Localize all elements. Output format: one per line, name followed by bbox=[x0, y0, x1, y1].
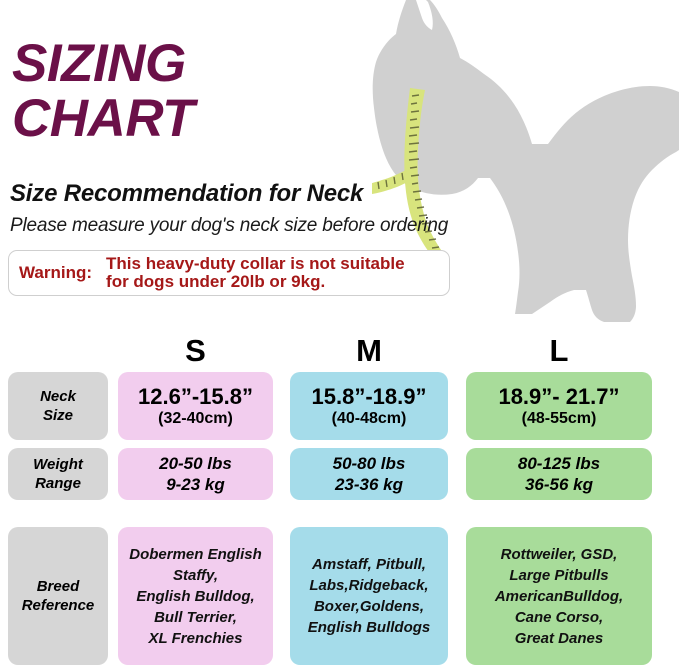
instruction-text: Please measure your dog's neck size befo… bbox=[10, 215, 448, 237]
neck-size-medium-inches: 15.8”-18.9” bbox=[312, 384, 427, 409]
page-title-line-2: CHART bbox=[12, 91, 432, 146]
breed-reference-small-value: Dobermen English Staffy, English Bulldog… bbox=[123, 544, 268, 649]
weight-range-small-cell: 20-50 lbs 9-23 kg bbox=[118, 448, 273, 500]
warning-label: Warning: bbox=[19, 263, 92, 283]
weight-range-large-value: 80-125 lbs 36-56 kg bbox=[518, 453, 600, 495]
neck-size-medium-cell: 15.8”-18.9” (40-48cm) bbox=[290, 372, 448, 440]
neck-size-small-inches: 12.6”-15.8” bbox=[138, 384, 253, 409]
neck-size-large-cell: 18.9”- 21.7” (48-55cm) bbox=[466, 372, 652, 440]
row-label-breed-reference: Breed Reference bbox=[8, 527, 108, 665]
neck-size-medium-cm: (40-48cm) bbox=[332, 409, 407, 428]
size-header-medium: M bbox=[290, 333, 448, 369]
breed-reference-large-cell: Rottweiler, GSD, Large Pitbulls American… bbox=[466, 527, 652, 665]
breed-reference-large-value: Rottweiler, GSD, Large Pitbulls American… bbox=[489, 544, 629, 649]
page-title: SIZING CHART bbox=[12, 36, 432, 146]
neck-size-large-inches: 18.9”- 21.7” bbox=[498, 384, 619, 409]
breed-reference-medium-cell: Amstaff, Pitbull, Labs,Ridgeback, Boxer,… bbox=[290, 527, 448, 665]
weight-range-large-cell: 80-125 lbs 36-56 kg bbox=[466, 448, 652, 500]
weight-range-small-value: 20-50 lbs 9-23 kg bbox=[159, 453, 232, 495]
neck-size-small-cell: 12.6”-15.8” (32-40cm) bbox=[118, 372, 273, 440]
warning-box: Warning: This heavy-duty collar is not s… bbox=[8, 250, 450, 296]
row-label-neck-size: Neck Size bbox=[8, 372, 108, 440]
subtitle: Size Recommendation for Neck bbox=[10, 180, 363, 208]
size-header-large: L bbox=[466, 333, 652, 369]
weight-range-medium-value: 50-80 lbs 23-36 kg bbox=[333, 453, 406, 495]
breed-reference-small-cell: Dobermen English Staffy, English Bulldog… bbox=[118, 527, 273, 665]
warning-message: This heavy-duty collar is not suitable f… bbox=[106, 255, 405, 291]
size-header-small: S bbox=[118, 333, 273, 369]
neck-size-large-cm: (48-55cm) bbox=[522, 409, 597, 428]
page-title-line-1: SIZING bbox=[12, 36, 432, 91]
row-label-weight-range: Weight Range bbox=[8, 448, 108, 500]
breed-reference-medium-value: Amstaff, Pitbull, Labs,Ridgeback, Boxer,… bbox=[302, 554, 437, 638]
neck-size-small-cm: (32-40cm) bbox=[158, 409, 233, 428]
weight-range-medium-cell: 50-80 lbs 23-36 kg bbox=[290, 448, 448, 500]
